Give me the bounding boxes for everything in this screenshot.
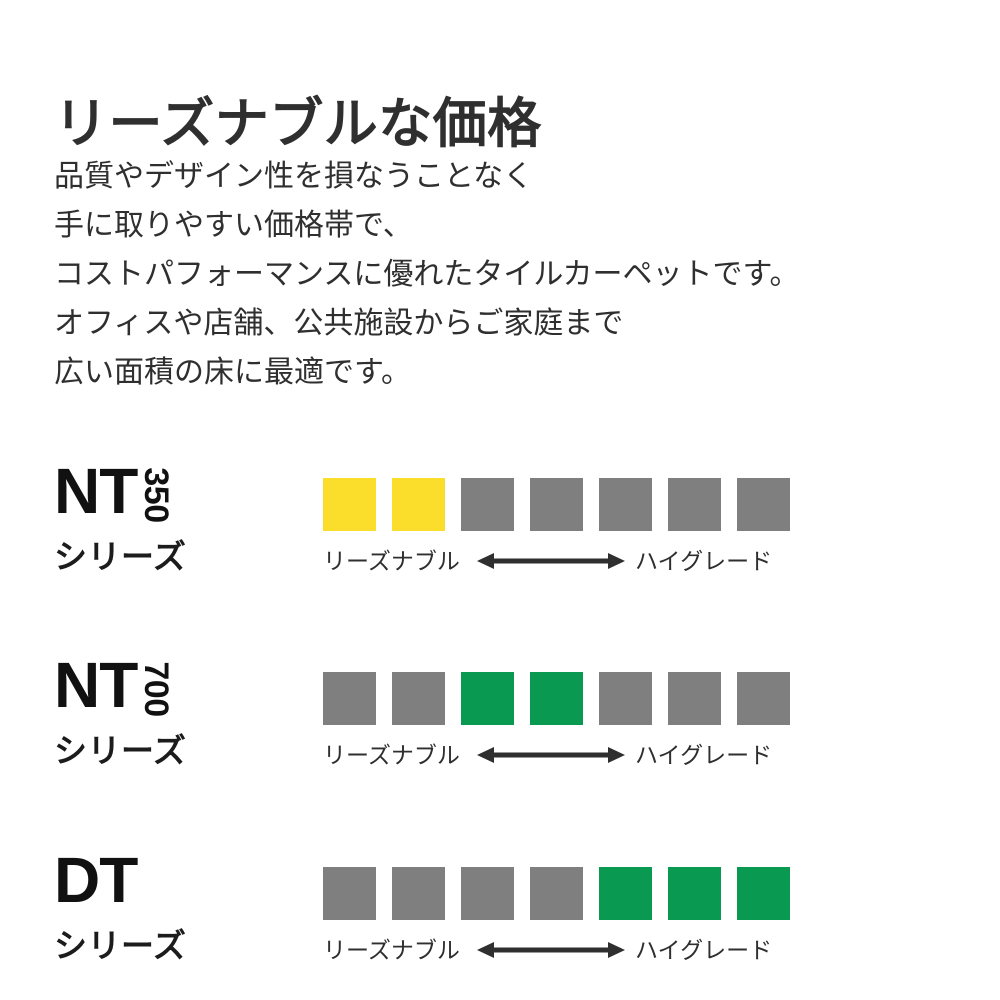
swatch-3: [461, 672, 514, 725]
swatch-6: [668, 672, 721, 725]
swatch-7: [737, 672, 790, 725]
price-scale-dt: リーズナブル ハイグレード: [323, 867, 790, 966]
double-headed-arrow-icon: [477, 940, 625, 960]
pricing-infographic: リーズナブルな価格 品質やデザイン性を損なうことなく 手に取りやすい価格帯で、 …: [0, 0, 1000, 1000]
swatch-4: [530, 672, 583, 725]
swatch-4: [530, 478, 583, 531]
legend-high-label: ハイグレード: [635, 547, 772, 575]
swatch-5: [599, 478, 652, 531]
series-sub-text: シリーズ: [54, 919, 186, 967]
swatch-2: [392, 478, 445, 531]
swatch-7: [737, 867, 790, 920]
scale-legend: リーズナブル ハイグレード: [323, 547, 790, 577]
series-alpha-text: NT: [54, 656, 137, 715]
swatch-5: [599, 867, 652, 920]
series-label-nt350: NT 350 シリーズ: [54, 462, 299, 587]
description-line: コストパフォーマンスに優れたタイルカーペットです。: [54, 250, 800, 299]
swatch-track: [323, 867, 790, 920]
series-name: DT: [54, 851, 173, 917]
swatch-1: [323, 867, 376, 920]
price-scale-nt350: リーズナブル ハイグレード: [323, 478, 790, 577]
swatch-1: [323, 672, 376, 725]
legend-low-label: リーズナブル: [323, 936, 460, 964]
description-line: 手に取りやすい価格帯で、: [54, 201, 800, 250]
series-alpha-text: DT: [54, 851, 137, 910]
series-number-rotated: 350: [139, 462, 173, 528]
series-number-rotated: 700: [139, 656, 173, 722]
double-headed-arrow-icon: [477, 745, 625, 765]
swatch-5: [599, 672, 652, 725]
series-sub-text: シリーズ: [54, 724, 186, 772]
scale-legend: リーズナブル ハイグレード: [323, 741, 790, 771]
legend-low-label: リーズナブル: [323, 547, 460, 575]
series-sub-text: シリーズ: [54, 530, 186, 578]
swatch-1: [323, 478, 376, 531]
swatch-6: [668, 478, 721, 531]
series-name: NT 350: [54, 462, 173, 528]
swatch-7: [737, 478, 790, 531]
legend-high-label: ハイグレード: [635, 741, 772, 769]
series-label-dt: DT シリーズ: [54, 851, 299, 976]
page-title: リーズナブルな価格: [54, 93, 542, 155]
description-line: 品質やデザイン性を損なうことなく: [54, 152, 800, 201]
price-scale-nt700: リーズナブル ハイグレード: [323, 672, 790, 771]
series-number-rotated: [139, 851, 173, 917]
series-name: NT 700: [54, 656, 173, 722]
swatch-4: [530, 867, 583, 920]
series-label-nt700: NT 700 シリーズ: [54, 656, 299, 781]
description-line: オフィスや店舗、公共施設からご家庭まで: [54, 299, 800, 348]
swatch-2: [392, 672, 445, 725]
swatch-2: [392, 867, 445, 920]
series-number-text: 700: [139, 661, 173, 716]
swatch-3: [461, 478, 514, 531]
double-headed-arrow-icon: [477, 551, 625, 571]
legend-high-label: ハイグレード: [635, 936, 772, 964]
swatch-track: [323, 478, 790, 531]
description-paragraph: 品質やデザイン性を損なうことなく 手に取りやすい価格帯で、 コストパフォーマンス…: [54, 152, 800, 397]
series-number-text: 350: [139, 467, 173, 522]
legend-low-label: リーズナブル: [323, 741, 460, 769]
scale-legend: リーズナブル ハイグレード: [323, 936, 790, 966]
series-alpha-text: NT: [54, 462, 137, 521]
swatch-6: [668, 867, 721, 920]
swatch-3: [461, 867, 514, 920]
swatch-track: [323, 672, 790, 725]
description-line: 広い面積の床に最適です。: [54, 348, 800, 397]
